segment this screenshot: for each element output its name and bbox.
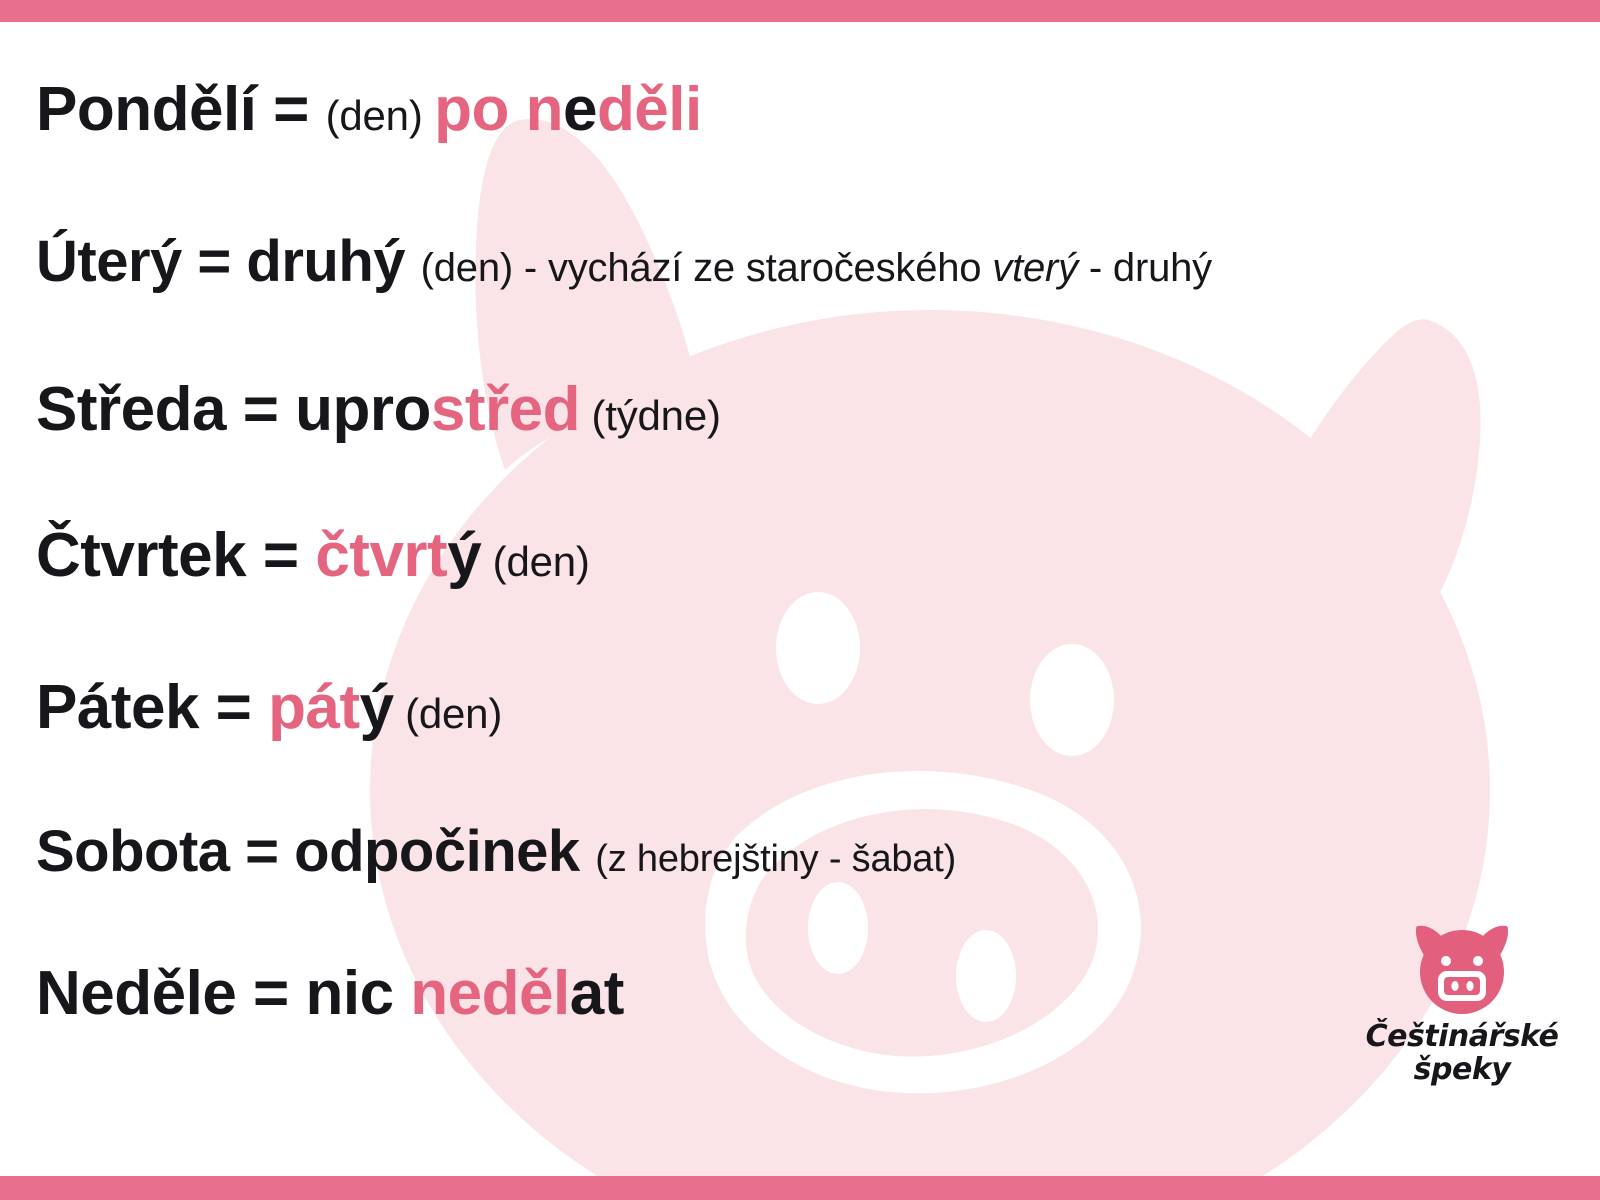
pig-head-icon [1402,908,1522,1020]
segment-nedele-2: at [570,959,624,1028]
top-accent-bar [0,0,1600,22]
segment-utery-1: (den) - vychází ze staročeského [421,246,993,290]
brand-logo: Češtinářské špeky [1352,908,1572,1085]
segment-utery-2: vterý [992,246,1078,290]
segment-ctvrtek-1: čtvrt [315,521,447,590]
segment-nedele-0: Neděle = nic [36,959,410,1028]
line-nedele: Neděle = nic nedělat [36,958,624,1029]
segment-pondeli-0: Pondělí [36,75,273,144]
line-ctvrtek: Čtvrtek = čtvrtý (den) [36,520,590,591]
line-streda: Středa = uprostřed (týdne) [36,374,721,445]
segment-patek-0: Pátek = [36,673,268,742]
segment-patek-3: (den) [394,690,503,737]
segment-streda-0: Středa = upro [36,375,431,444]
line-utery: Úterý = druhý (den) - vychází ze staroče… [36,228,1212,295]
segment-patek-2: ý [360,673,394,742]
segment-sobota-0: Sobota = odpočinek [36,819,595,884]
brand-name-line2: špeky [1352,1055,1572,1086]
segment-pondeli-2: (den) [326,92,435,139]
segment-pondeli-5: děli [597,75,702,144]
segment-ctvrtek-3: (den) [481,538,590,585]
segment-streda-2: (týdne) [580,392,721,439]
segment-utery-0: Úterý = druhý [36,229,421,294]
segment-ctvrtek-0: Čtvrtek = [36,521,315,590]
segment-pondeli-3: po n [434,75,563,144]
line-pondeli: Pondělí = (den) po neděli [36,74,702,145]
segment-ctvrtek-2: ý [447,521,481,590]
segment-sobota-1: (z hebrejštiny - šabat) [595,838,956,880]
segment-utery-3: - druhý [1078,246,1212,290]
segment-pondeli-1: = [273,75,325,144]
poster-canvas: Pondělí = (den) po neděli Úterý = druhý … [0,0,1600,1200]
segment-nedele-1: neděl [410,959,569,1028]
bottom-accent-bar [0,1176,1600,1200]
segment-patek-1: pát [268,673,360,742]
line-sobota: Sobota = odpočinek (z hebrejštiny - šaba… [36,818,956,885]
segment-streda-1: střed [431,375,580,444]
segment-pondeli-4: e [563,75,597,144]
brand-name-line1: Češtinářské [1352,1022,1572,1053]
line-patek: Pátek = pátý (den) [36,672,502,743]
